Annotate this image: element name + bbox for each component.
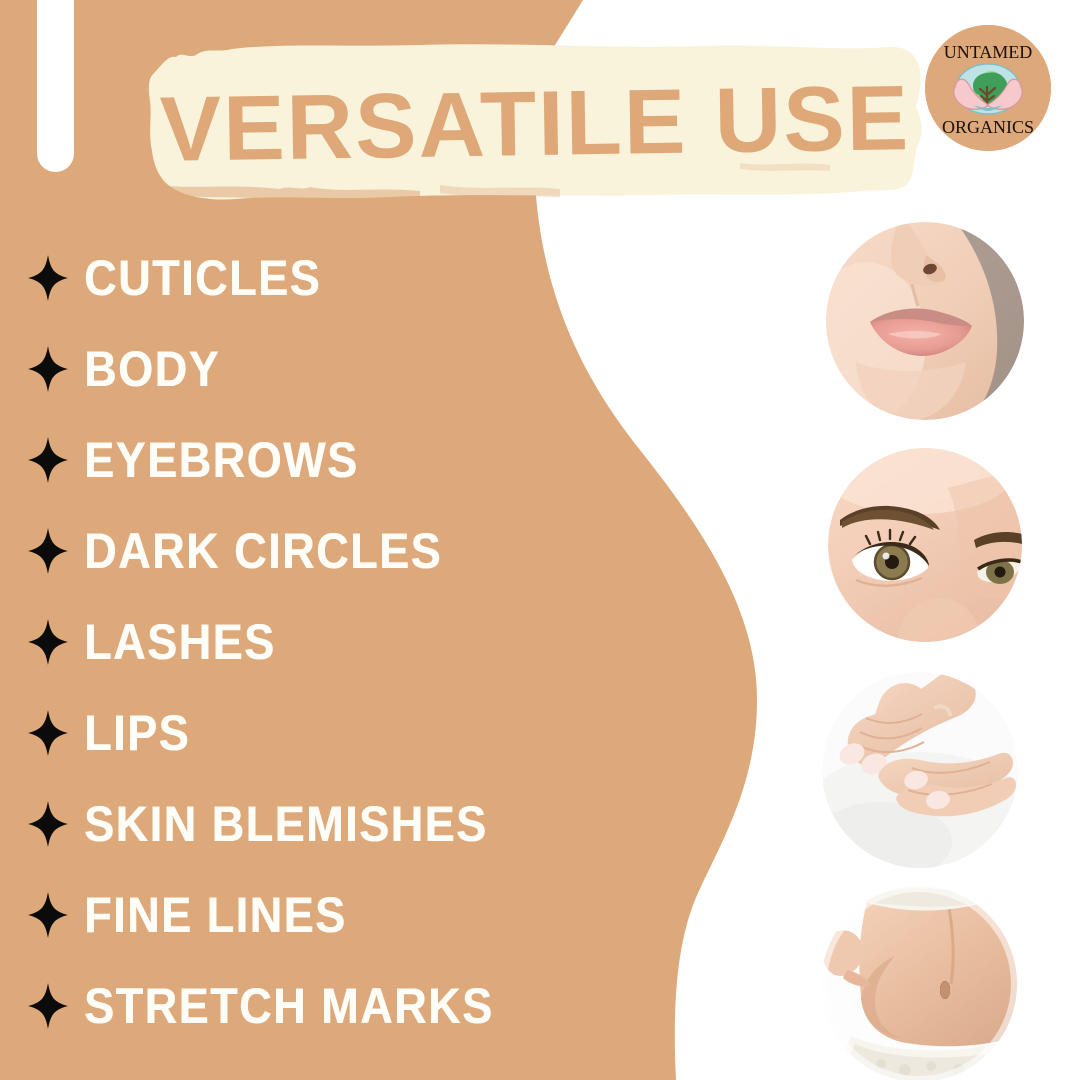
brand-logo: UNTAMED ORGANICS bbox=[925, 25, 1051, 151]
poster-canvas: VERSATILE USE UNTAMED ORGANICS CUTICLES bbox=[0, 0, 1080, 1080]
sparkle-four-point-icon bbox=[28, 619, 68, 665]
lips-closeup-photo bbox=[826, 222, 1024, 420]
list-item-fine-lines: FINE LINES bbox=[28, 869, 568, 960]
list-item-label: LASHES bbox=[84, 616, 276, 666]
list-item-label: STRETCH MARKS bbox=[84, 980, 494, 1030]
uses-list: CUTICLES BODY EYEBROWS DARK CIRCLES LASH bbox=[28, 232, 568, 1051]
list-item-label: FINE LINES bbox=[84, 889, 347, 939]
list-item-skin-blemishes: SKIN BLEMISHES bbox=[28, 778, 568, 869]
list-item-label: SKIN BLEMISHES bbox=[84, 798, 488, 848]
accent-bar bbox=[37, 0, 74, 172]
list-item-cuticles: CUTICLES bbox=[28, 232, 568, 323]
torso-waist-closeup-photo bbox=[821, 886, 1017, 1080]
sparkle-four-point-icon bbox=[28, 255, 68, 301]
logo-graphic: UNTAMED ORGANICS bbox=[925, 25, 1051, 151]
sparkle-four-point-icon bbox=[28, 437, 68, 483]
sparkle-four-point-icon bbox=[28, 892, 68, 938]
title-banner: VERSATILE USE bbox=[140, 33, 930, 228]
list-item-stretch-marks: STRETCH MARKS bbox=[28, 960, 568, 1051]
eyebrows-eyes-closeup-photo bbox=[828, 448, 1022, 642]
list-item-body: BODY bbox=[28, 323, 568, 414]
logo-top-text: UNTAMED bbox=[944, 42, 1033, 62]
list-item-label: DARK CIRCLES bbox=[84, 525, 442, 575]
sparkle-four-point-icon bbox=[28, 346, 68, 392]
list-item-dark-circles: DARK CIRCLES bbox=[28, 505, 568, 596]
sparkle-four-point-icon bbox=[28, 983, 68, 1029]
list-item-label: CUTICLES bbox=[84, 252, 321, 302]
hands-holding-tree-icon bbox=[954, 64, 1022, 114]
hands-nails-closeup-photo bbox=[822, 672, 1018, 868]
list-item-label: LIPS bbox=[84, 707, 190, 757]
list-item-eyebrows: EYEBROWS bbox=[28, 414, 568, 505]
page-title: VERSATILE USE bbox=[139, 27, 932, 234]
list-item-label: EYEBROWS bbox=[84, 434, 359, 484]
logo-bottom-text: ORGANICS bbox=[942, 117, 1034, 137]
sparkle-four-point-icon bbox=[28, 801, 68, 847]
sparkle-four-point-icon bbox=[28, 710, 68, 756]
list-item-lashes: LASHES bbox=[28, 596, 568, 687]
list-item-lips: LIPS bbox=[28, 687, 568, 778]
list-item-label: BODY bbox=[84, 343, 220, 393]
sparkle-four-point-icon bbox=[28, 528, 68, 574]
